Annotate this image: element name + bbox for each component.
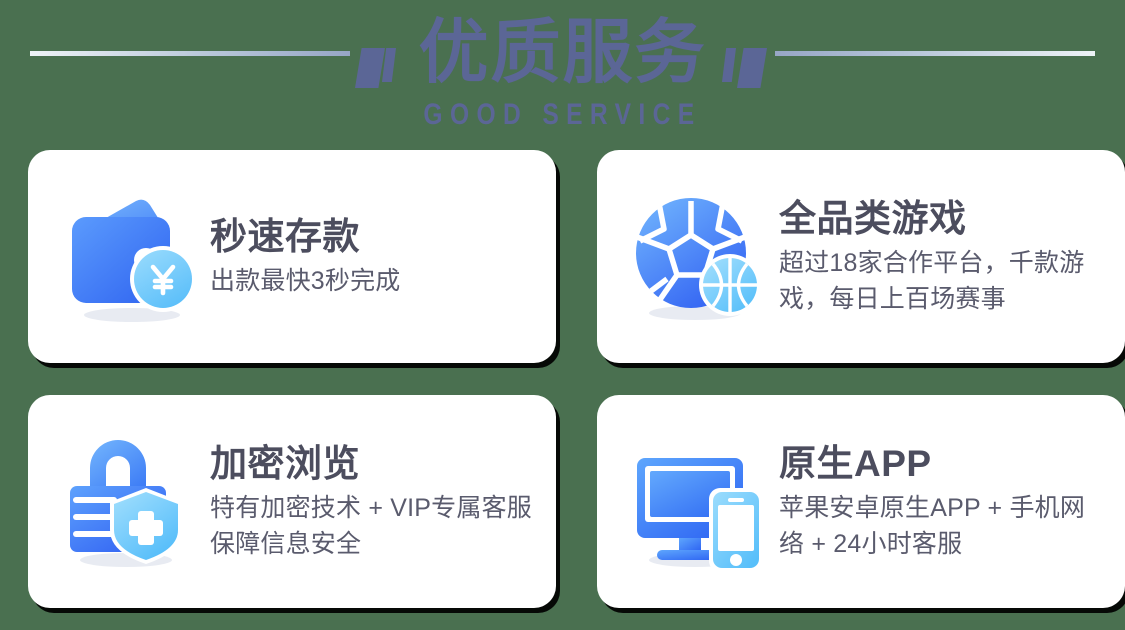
service-card-native-app[interactable]: 原生APP 苹果安卓原生APP + 手机网络 + 24小时客服 xyxy=(597,395,1125,608)
service-card-deposit[interactable]: 秒速存款 出款最快3秒完成 xyxy=(28,150,556,363)
card-description: 特有加密技术 + VIP专属客服保障信息安全 xyxy=(210,490,538,562)
page-subtitle: GOOD SERVICE xyxy=(101,98,1024,132)
service-card-encryption[interactable]: 加密浏览 特有加密技术 + VIP专属客服保障信息安全 xyxy=(28,395,556,608)
card-description: 超过18家合作平台，千款游戏，每日上百场赛事 xyxy=(779,245,1107,317)
wallet-yen-icon xyxy=(60,187,200,327)
monitor-phone-icon xyxy=(629,432,769,572)
card-title: 全品类游戏 xyxy=(779,196,1107,242)
card-title: 秒速存款 xyxy=(210,214,538,260)
page-title: 优质服务 xyxy=(0,14,1125,90)
card-text-block: 原生APP 苹果安卓原生APP + 手机网络 + 24小时客服 xyxy=(769,441,1107,562)
service-card-games[interactable]: 全品类游戏 超过18家合作平台，千款游戏，每日上百场赛事 xyxy=(597,150,1125,363)
card-title: 原生APP xyxy=(779,441,1107,487)
card-text-block: 秒速存款 出款最快3秒完成 xyxy=(200,214,538,299)
service-card-grid: 秒速存款 出款最快3秒完成 xyxy=(0,150,1125,608)
card-title: 加密浏览 xyxy=(210,441,538,487)
card-description: 出款最快3秒完成 xyxy=(210,263,538,299)
card-description: 苹果安卓原生APP + 手机网络 + 24小时客服 xyxy=(779,490,1107,562)
lock-shield-icon xyxy=(60,432,200,572)
soccer-basketball-icon xyxy=(629,187,769,327)
card-text-block: 加密浏览 特有加密技术 + VIP专属客服保障信息安全 xyxy=(200,441,538,562)
section-header: 优质服务 GOOD SERVICE xyxy=(0,0,1125,148)
card-text-block: 全品类游戏 超过18家合作平台，千款游戏，每日上百场赛事 xyxy=(769,196,1107,317)
